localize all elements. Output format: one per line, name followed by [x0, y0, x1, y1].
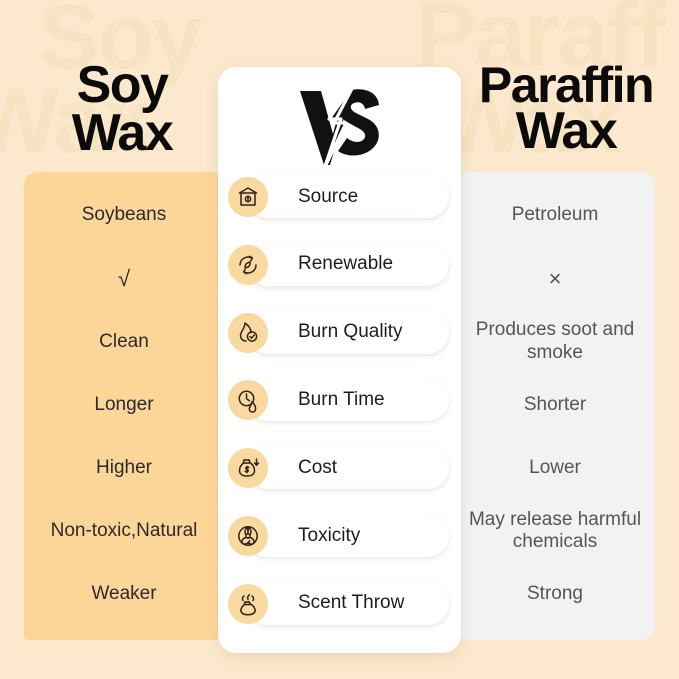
soy-wax-value: Soybeans	[30, 184, 218, 247]
page-title-paraffin-wax: Paraffin Wax	[452, 62, 679, 156]
attribute-row: Scent Throw	[228, 582, 449, 625]
biohazard-icon	[228, 516, 268, 556]
soy-wax-value: √	[30, 247, 218, 310]
paraffin-wax-value: Shorter	[461, 373, 649, 436]
soy-wax-value: Non-toxic,Natural	[30, 500, 218, 563]
soy-wax-values-panel: Soybeans√CleanLongerHigherNon-toxic,Natu…	[24, 172, 224, 640]
title-soy-line1: Soy	[22, 62, 222, 110]
attribute-label: Scent Throw	[298, 592, 404, 614]
soy-wax-value: Longer	[30, 373, 218, 436]
attribute-pill-source[interactable]: Source	[246, 175, 449, 218]
attribute-row: Burn Time	[228, 378, 449, 421]
attribute-label: Toxicity	[298, 525, 360, 547]
attribute-rows: SourceRenewableBurn QualityBurn TimeCost…	[218, 175, 461, 625]
attribute-pill-scent-throw[interactable]: Scent Throw	[246, 582, 449, 625]
attribute-row: Cost	[228, 446, 449, 489]
page-title-soy-wax: Soy Wax	[22, 62, 222, 158]
scent-sachet-icon	[228, 584, 268, 624]
attribute-label: Burn Time	[298, 389, 385, 411]
attribute-label: Cost	[298, 457, 337, 479]
sack-icon	[228, 177, 268, 217]
title-soy-line2: Wax	[22, 110, 222, 158]
attribute-row: Toxicity	[228, 514, 449, 557]
title-paraffin-line2: Wax	[452, 108, 679, 156]
paraffin-wax-values-panel: Petroleum×Produces soot and smokeShorter…	[455, 172, 655, 640]
recycle-leaf-icon	[228, 245, 268, 285]
paraffin-wax-value: ×	[461, 247, 649, 310]
attribute-row: Burn Quality	[228, 311, 449, 354]
attribute-pill-burn-quality[interactable]: Burn Quality	[246, 311, 449, 354]
soy-wax-value: Weaker	[30, 563, 218, 626]
attribute-pill-cost[interactable]: Cost	[246, 446, 449, 489]
vs-lightning-icon	[294, 81, 386, 169]
paraffin-wax-value: Lower	[461, 437, 649, 500]
attribute-pill-burn-time[interactable]: Burn Time	[246, 378, 449, 421]
attribute-pill-renewable[interactable]: Renewable	[246, 243, 449, 286]
attribute-row: Source	[228, 175, 449, 218]
paraffin-wax-value: Produces soot and smoke	[461, 310, 649, 373]
attribute-row: Renewable	[228, 243, 449, 286]
soy-wax-value: Clean	[30, 310, 218, 373]
attribute-label: Renewable	[298, 253, 393, 275]
vs-badge	[218, 77, 461, 173]
paraffin-wax-value: Petroleum	[461, 184, 649, 247]
comparison-attribute-card: SourceRenewableBurn QualityBurn TimeCost…	[218, 67, 461, 653]
attribute-pill-toxicity[interactable]: Toxicity	[246, 514, 449, 557]
soy-wax-value: Higher	[30, 437, 218, 500]
flame-check-icon	[228, 313, 268, 353]
attribute-label: Burn Quality	[298, 321, 403, 343]
paraffin-wax-value: Strong	[461, 563, 649, 626]
attribute-label: Source	[298, 186, 358, 208]
paraffin-wax-value: May release harmful chemicals	[461, 500, 649, 563]
